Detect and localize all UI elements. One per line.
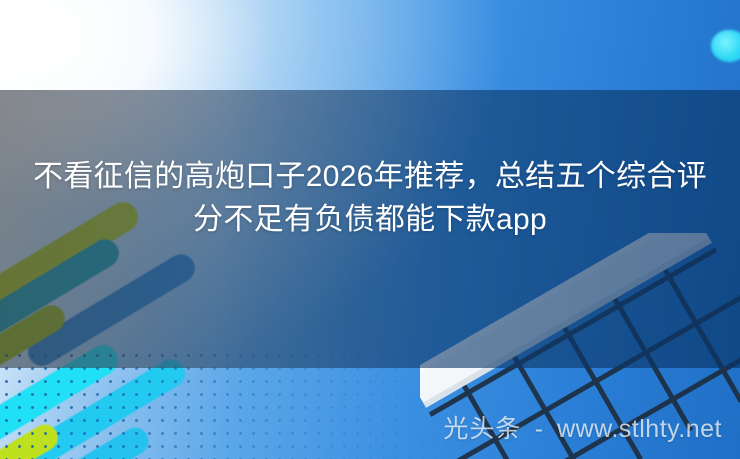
watermark-url: www.stlhty.net	[557, 415, 722, 443]
page-title: 不看征信的高炮口子2026年推荐，总结五个综合评分不足有负债都能下款app	[0, 155, 740, 241]
article-thumbnail-card: 不看征信的高炮口子2026年推荐，总结五个综合评分不足有负债都能下款app 光头…	[0, 0, 740, 459]
watermark-site-name: 光头条	[443, 415, 521, 443]
site-watermark: 光头条 - www.stlhty.net	[443, 409, 722, 445]
cyan-blob-accent	[711, 30, 740, 62]
watermark-separator: -	[535, 415, 544, 443]
